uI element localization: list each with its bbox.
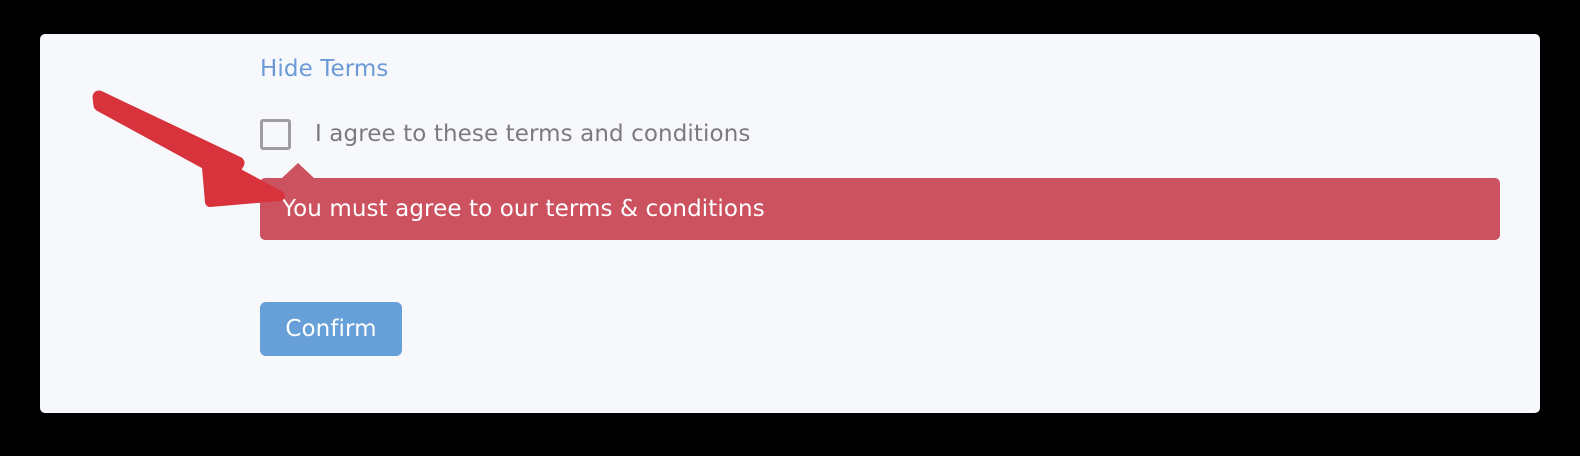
- terms-error-banner: You must agree to our terms & conditions: [260, 178, 1500, 240]
- terms-card: Hide Terms I agree to these terms and co…: [40, 34, 1540, 413]
- error-caret-icon: [282, 163, 314, 178]
- agree-terms-checkbox[interactable]: [260, 119, 291, 150]
- confirm-button[interactable]: Confirm: [260, 302, 402, 356]
- agree-terms-row: I agree to these terms and conditions: [260, 116, 750, 152]
- agree-terms-label: I agree to these terms and conditions: [315, 121, 750, 147]
- error-message-text: You must agree to our terms & conditions: [282, 196, 765, 222]
- hide-terms-link[interactable]: Hide Terms: [260, 58, 388, 81]
